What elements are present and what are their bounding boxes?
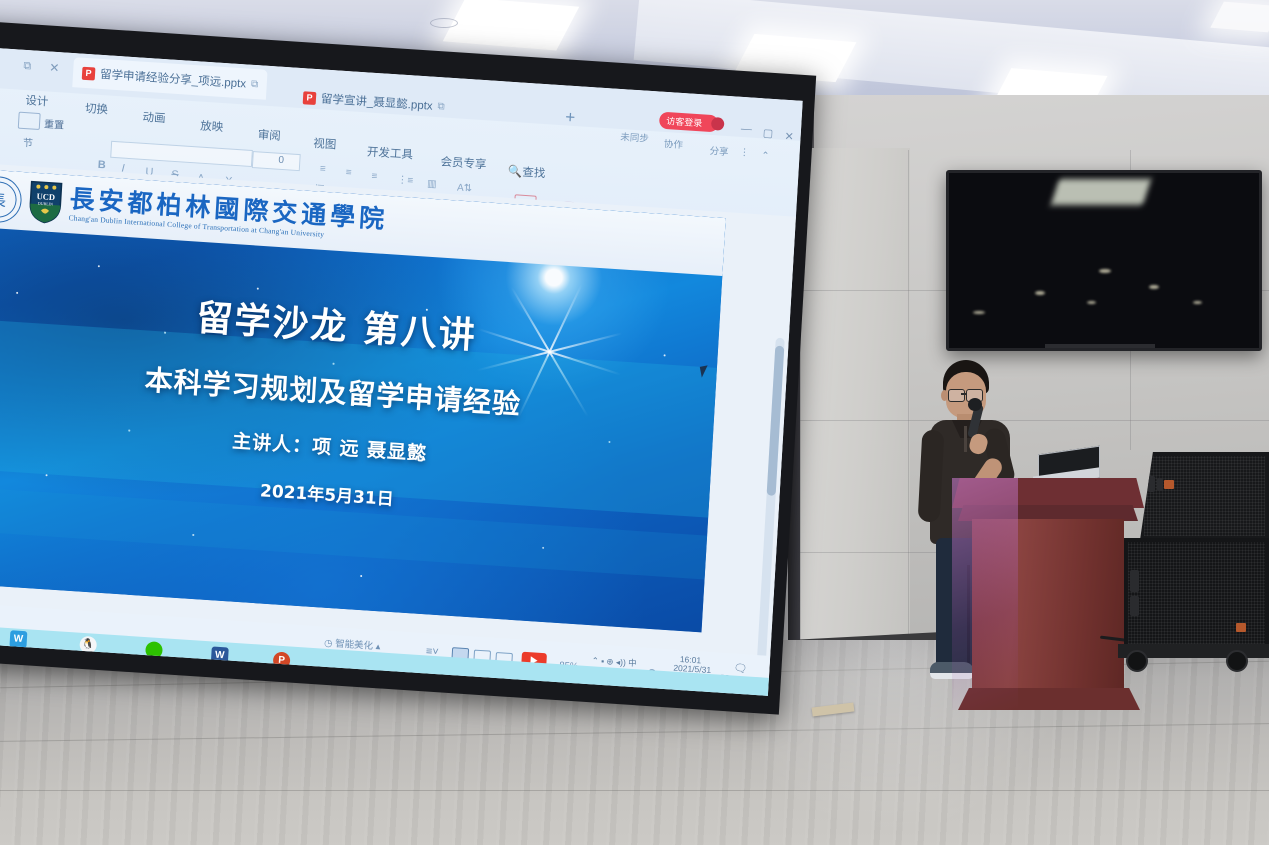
tv-reflection — [1087, 301, 1096, 304]
speaker-handle — [1130, 596, 1139, 616]
screen-display-area: ...pptx ⧉ ✕ P 留学申请经验分享_项远.pptx ⧉ P 留学宣讲_… — [0, 46, 803, 696]
speaker-handle — [1148, 476, 1155, 492]
restore-window-icon[interactable]: ⧉ — [23, 60, 32, 73]
tv-bottom-bar — [1045, 344, 1155, 348]
line-spacing-button[interactable]: ⋮≡ — [397, 175, 413, 187]
speaker-handle — [1130, 570, 1139, 592]
tv-reflection — [1099, 269, 1111, 273]
speaker-badge — [1236, 623, 1246, 632]
font-size-value: 0 — [278, 155, 284, 166]
ceiling-vent — [430, 18, 458, 28]
tv-reflection-panel — [1051, 179, 1151, 205]
pa-speaker-top — [1140, 452, 1269, 540]
college-name-block: 長安都柏林國際交通學院 Chang'an Dublin Internationa… — [68, 186, 388, 243]
ceiling-light — [443, 0, 579, 51]
microphone-head — [968, 398, 982, 411]
tv-reflection — [1193, 301, 1202, 304]
columns-button[interactable]: ▥ — [427, 179, 437, 191]
clock-date[interactable]: 2021/5/31 — [673, 663, 711, 675]
slide-editing-area[interactable]: 長 UCD — [0, 162, 796, 656]
cart-wheel — [1126, 650, 1148, 672]
align-right-button[interactable]: ≡ — [371, 171, 377, 182]
lecture-hall-scene: ...pptx ⧉ ✕ P 留学申请经验分享_项远.pptx ⧉ P 留学宣讲_… — [0, 0, 1269, 845]
ribbon-reset-label[interactable]: 重置 — [44, 115, 65, 131]
speaker-grille — [1144, 456, 1265, 536]
align-left-button[interactable]: ≡ — [320, 163, 326, 174]
pa-speaker-bottom — [1124, 538, 1269, 648]
document-tab-1-label: 留学申请经验分享_项远.pptx — [100, 66, 247, 92]
wall-column — [800, 148, 910, 703]
font-size-input[interactable] — [252, 151, 301, 171]
collaborate-button[interactable]: 协作 — [664, 136, 684, 151]
seal-glyph: 長 — [0, 176, 22, 223]
bold-button[interactable]: B — [97, 159, 106, 171]
menu-design[interactable]: 设计 — [25, 92, 49, 109]
close-button[interactable]: ✕ — [784, 130, 794, 144]
close-tab-icon[interactable]: ⧉ — [437, 101, 445, 112]
ucd-dublin-shield: UCD DUBLIN — [27, 180, 63, 226]
presenter-ear — [941, 390, 948, 401]
cart-wheel — [1226, 650, 1248, 672]
powerpoint-file-icon: P — [82, 66, 96, 80]
podium-projector-glow — [952, 478, 1018, 710]
polo-placket — [964, 426, 967, 452]
wall-seam — [800, 420, 1269, 421]
text-direction-button[interactable]: A⇅ — [457, 182, 473, 194]
speaker-handle — [1157, 478, 1163, 491]
ribbon-section-label[interactable]: 节 — [23, 134, 34, 150]
ucd-shield-svg: UCD DUBLIN — [27, 180, 63, 226]
maximize-button[interactable]: ▢ — [762, 126, 773, 140]
section-icon[interactable] — [18, 112, 41, 130]
ceiling-light — [1210, 2, 1269, 33]
collapse-ribbon-icon[interactable]: ⌃ — [761, 150, 770, 162]
wall-seam — [908, 150, 909, 703]
glasses-icon — [948, 389, 965, 402]
current-slide[interactable]: 長 UCD — [0, 168, 726, 632]
tv-reflection — [973, 311, 985, 314]
wps-office-icon[interactable]: W — [9, 630, 27, 648]
notification-icon[interactable]: 🗨 — [733, 662, 748, 676]
sync-status[interactable]: 未同步 — [620, 129, 649, 145]
align-center-button[interactable]: ≡ — [345, 167, 351, 178]
glasses-bridge — [961, 393, 966, 395]
speaker-badge — [1164, 480, 1174, 489]
svg-text:DUBLIN: DUBLIN — [38, 201, 53, 207]
tv-reflection — [1035, 291, 1045, 295]
powerpoint-file-icon: P — [303, 91, 317, 105]
changan-university-seal: 長 — [0, 175, 23, 224]
ribbon-more-icon[interactable]: ⋮ — [739, 147, 749, 159]
minimize-button[interactable]: — — [741, 123, 753, 136]
tv-reflection — [1149, 285, 1159, 289]
font-name-input[interactable] — [110, 141, 253, 167]
tray-icons[interactable]: ⌃ ▪ ⊕ ◂)) 中 — [591, 654, 637, 669]
projection-screen: ...pptx ⧉ ✕ P 留学申请经验分享_项远.pptx ⧉ P 留学宣讲_… — [0, 20, 824, 725]
wall-mounted-tv[interactable] — [946, 170, 1262, 351]
close-tab-icon[interactable]: ✕ — [49, 61, 60, 76]
close-tab-icon[interactable]: ⧉ — [251, 78, 259, 89]
wps-presentation-window: ...pptx ⧉ ✕ P 留学申请经验分享_项远.pptx ⧉ P 留学宣讲_… — [0, 46, 803, 696]
share-button[interactable]: 分享 — [709, 143, 729, 158]
